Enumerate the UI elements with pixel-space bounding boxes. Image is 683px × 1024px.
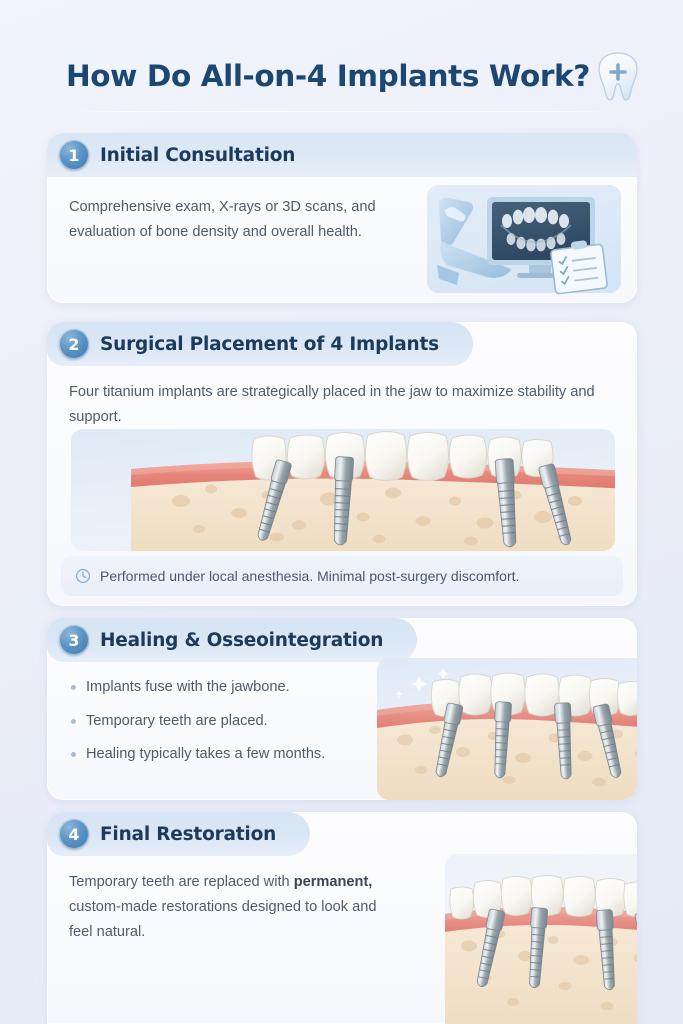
step-4-text-emphasis: permanent, [294,874,373,890]
step-4-title: Final Restoration [100,824,276,845]
step-1-badge: 1 [59,140,89,170]
page-header: How Do All-on-4 Implants Work? [0,48,683,103]
step-card-2: 2 Surgical Placement of 4 Implants Four … [47,322,637,606]
step-2-note: Performed under local anesthesia. Minima… [61,556,623,596]
step-card-4: 4 Final Restoration Temporary teeth are … [47,812,637,1024]
step-1-title: Initial Consultation [100,145,295,166]
step-3-header: 3 Healing & Osseointegration [47,618,417,662]
step-3-title: Healing & Osseointegration [100,630,383,651]
step-1-text: Comprehensive exam, X-rays or 3D scans, … [69,195,409,245]
step-card-1: 1 Initial Consultation Comprehensive exa… [47,133,637,303]
step-2-body: Four titanium implants are strategically… [47,366,637,430]
page-title: How Do All-on-4 Implants Work? [66,59,590,93]
illustration-dental-chair-xray-clipboard [425,181,623,297]
tooth-plus-icon [594,49,642,103]
list-item: Implants fuse with the jawbone. [69,676,369,699]
step-2-header: 2 Surgical Placement of 4 Implants [47,322,473,366]
step-2-badge: 2 [59,329,89,359]
illustration-jaw-final-restoration [445,854,637,1024]
step-3-bullet-list: Implants fuse with the jawbone. Temporar… [69,676,369,766]
clock-icon [75,568,91,584]
illustration-jaw-cross-section-four-implants [71,429,615,551]
step-card-3: 3 Healing & Osseointegration Implants fu… [47,618,637,800]
step-1-header: 1 Initial Consultation [47,133,637,177]
illustration-jaw-healing-sparkles [377,658,637,800]
step-4-text-tail: custom-made restorations designed to loo… [69,899,376,940]
step-4-text-lead: Temporary teeth are replaced with [69,874,294,890]
list-item: Healing typically takes a few months. [69,743,369,766]
step-4-header: 4 Final Restoration [47,812,310,856]
step-4-text: Temporary teeth are replaced with perman… [69,870,399,945]
list-item: Temporary teeth are placed. [69,710,369,733]
step-2-note-text: Performed under local anesthesia. Minima… [100,568,519,584]
step-4-badge: 4 [59,819,89,849]
step-2-text: Four titanium implants are strategically… [69,380,614,430]
step-2-title: Surgical Placement of 4 Implants [100,334,439,355]
step-3-badge: 3 [59,625,89,655]
title-divider [70,111,615,112]
infographic-page: How Do All-on-4 Implants Work? 1 Initial… [0,0,683,1024]
